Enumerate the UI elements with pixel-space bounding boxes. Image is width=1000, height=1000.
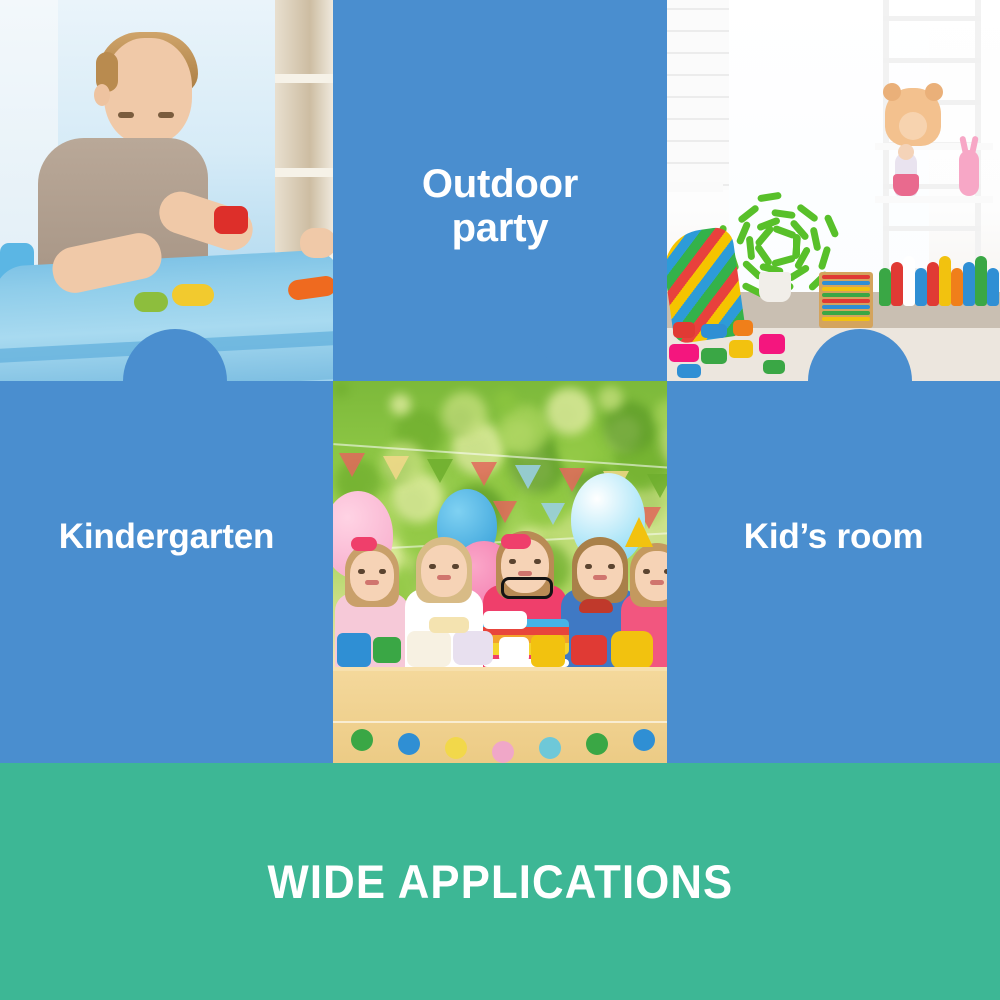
photo-outdoor-party <box>333 381 667 763</box>
treat <box>407 631 451 667</box>
shelf-board <box>275 74 333 83</box>
bowling-pin <box>963 262 975 306</box>
leaf <box>757 192 782 203</box>
brick-line <box>667 162 729 164</box>
child-face <box>577 545 623 597</box>
eye <box>158 112 174 118</box>
doll-head <box>898 144 914 160</box>
treat <box>453 631 493 665</box>
tile-kids-room <box>667 381 1000 763</box>
teddy-bear <box>885 88 941 146</box>
bowling-pins <box>879 252 999 306</box>
brick-line <box>667 118 729 120</box>
foliage-blob <box>494 390 517 413</box>
banner-title: WIDE APPLICATIONS <box>267 854 733 909</box>
bowling-pin <box>879 268 891 306</box>
garland-wire <box>333 721 667 723</box>
bunting-flag <box>427 459 453 483</box>
ear <box>94 84 110 106</box>
eye <box>118 112 134 118</box>
brick-wall <box>667 0 729 190</box>
abacus-row <box>822 305 870 309</box>
hand <box>300 228 333 258</box>
moustache-prop <box>579 599 613 613</box>
leaf <box>746 236 755 261</box>
brick-line <box>667 74 729 76</box>
child-eye <box>585 564 592 569</box>
treat <box>429 617 469 633</box>
ladder-rung <box>883 16 981 21</box>
application-showcase-graphic: Outdoor party Kindergarten Kid’s room WI… <box>0 0 1000 1000</box>
hair-bow <box>501 534 531 549</box>
child-eye <box>379 569 386 574</box>
floor-toy <box>701 324 727 338</box>
garland-pompom <box>492 741 514 763</box>
child-mouth <box>437 575 451 580</box>
treat <box>611 631 653 669</box>
bunting-flag <box>471 462 497 486</box>
garland-pompom <box>539 737 561 759</box>
eyeglasses-prop <box>501 577 553 599</box>
pompom-garland <box>333 703 667 757</box>
child-mouth <box>650 580 664 585</box>
abacus-row <box>822 311 870 315</box>
garland-pompom <box>445 737 467 759</box>
clay-green <box>134 292 168 312</box>
abacus-row <box>822 317 870 321</box>
bunting-flag <box>541 503 565 525</box>
photo-kids-playroom <box>667 0 1000 381</box>
floor-toy <box>763 360 785 374</box>
bowling-pin <box>975 256 987 306</box>
garland-pompom <box>351 729 373 751</box>
foliage-blob <box>390 394 411 415</box>
treat <box>531 635 565 667</box>
bowling-pin <box>987 268 999 306</box>
child-eye <box>429 564 436 569</box>
abacus-row <box>822 275 870 279</box>
bowling-pin <box>927 262 939 306</box>
photo-kindergarten-boy <box>0 0 333 381</box>
child-mouth <box>518 571 532 576</box>
teddy-ear <box>925 83 943 101</box>
bunny-toy <box>959 150 979 196</box>
bowling-pin <box>939 256 951 306</box>
floor-toy <box>733 320 753 336</box>
child-eye <box>509 559 516 564</box>
foliage-blob <box>655 399 667 429</box>
child-eye <box>452 564 459 569</box>
treat <box>373 637 401 663</box>
face <box>104 38 192 144</box>
doll-dress <box>893 174 919 196</box>
child-eye <box>608 564 615 569</box>
leaf <box>810 227 822 252</box>
floor-toy <box>677 364 701 378</box>
side-shelf <box>667 182 723 192</box>
doll <box>895 152 917 196</box>
foliage-blob <box>333 381 349 397</box>
child-eye <box>534 559 541 564</box>
leaf <box>796 203 819 223</box>
brick-line <box>667 52 729 54</box>
bunting-flag <box>339 453 365 477</box>
plant-pot <box>759 272 791 302</box>
leaf <box>737 204 760 224</box>
child-face <box>350 551 394 601</box>
shelf-board <box>275 168 333 177</box>
bunting-flag <box>515 465 541 489</box>
clay-red <box>214 206 248 234</box>
abacus-toy <box>819 272 873 328</box>
floor-toys <box>667 318 797 381</box>
treat <box>571 635 607 665</box>
label-kids-room: Kid’s room <box>667 518 1000 557</box>
brick-line <box>667 8 729 10</box>
bowling-pin <box>915 268 927 306</box>
abacus-row <box>822 299 870 303</box>
floor-toy <box>759 334 785 354</box>
bowling-pin <box>951 268 963 306</box>
floor-toy <box>669 344 699 362</box>
bunting-flag <box>383 456 409 480</box>
brick-line <box>667 140 729 142</box>
tile-kindergarten <box>0 381 333 763</box>
party-hat <box>625 517 653 547</box>
foliage-blob <box>546 388 593 435</box>
garland-pompom <box>633 729 655 751</box>
foliage-blob <box>442 392 487 437</box>
child-mouth <box>593 575 607 580</box>
clay-yellow <box>172 284 214 306</box>
brick-line <box>667 96 729 98</box>
teddy-belly <box>899 112 927 140</box>
label-kindergarten: Kindergarten <box>0 518 333 557</box>
abacus-row <box>822 287 870 291</box>
treat <box>499 637 529 663</box>
shelf-plank <box>875 196 993 203</box>
child-mouth <box>365 580 379 585</box>
label-outdoor-party-line1: Outdoor <box>333 162 667 206</box>
bowling-pin <box>903 256 915 306</box>
ladder-rung <box>883 58 981 63</box>
floor-toy <box>701 348 727 364</box>
ladder-rung <box>883 226 981 231</box>
hair-bow <box>351 537 377 551</box>
child-face <box>421 545 467 597</box>
child-eye <box>643 569 650 574</box>
abacus-row <box>822 293 870 297</box>
bunting-flag <box>647 474 667 498</box>
brick-line <box>667 30 729 32</box>
potted-plant <box>729 182 827 278</box>
child-face <box>635 551 667 601</box>
label-outdoor-party-line2: party <box>333 206 667 250</box>
treat <box>337 633 371 667</box>
floor-toy <box>729 340 753 358</box>
treat <box>483 611 527 629</box>
floor-toy <box>673 322 695 338</box>
wide-applications-banner: WIDE APPLICATIONS <box>0 763 1000 1000</box>
abacus-row <box>822 281 870 285</box>
garland-pompom <box>398 733 420 755</box>
teddy-ear <box>883 83 901 101</box>
foliage-blob <box>598 386 623 411</box>
bowling-pin <box>891 262 903 306</box>
child-eye <box>358 569 365 574</box>
garland-pompom <box>586 733 608 755</box>
label-outdoor-party: Outdoor party <box>333 162 667 250</box>
